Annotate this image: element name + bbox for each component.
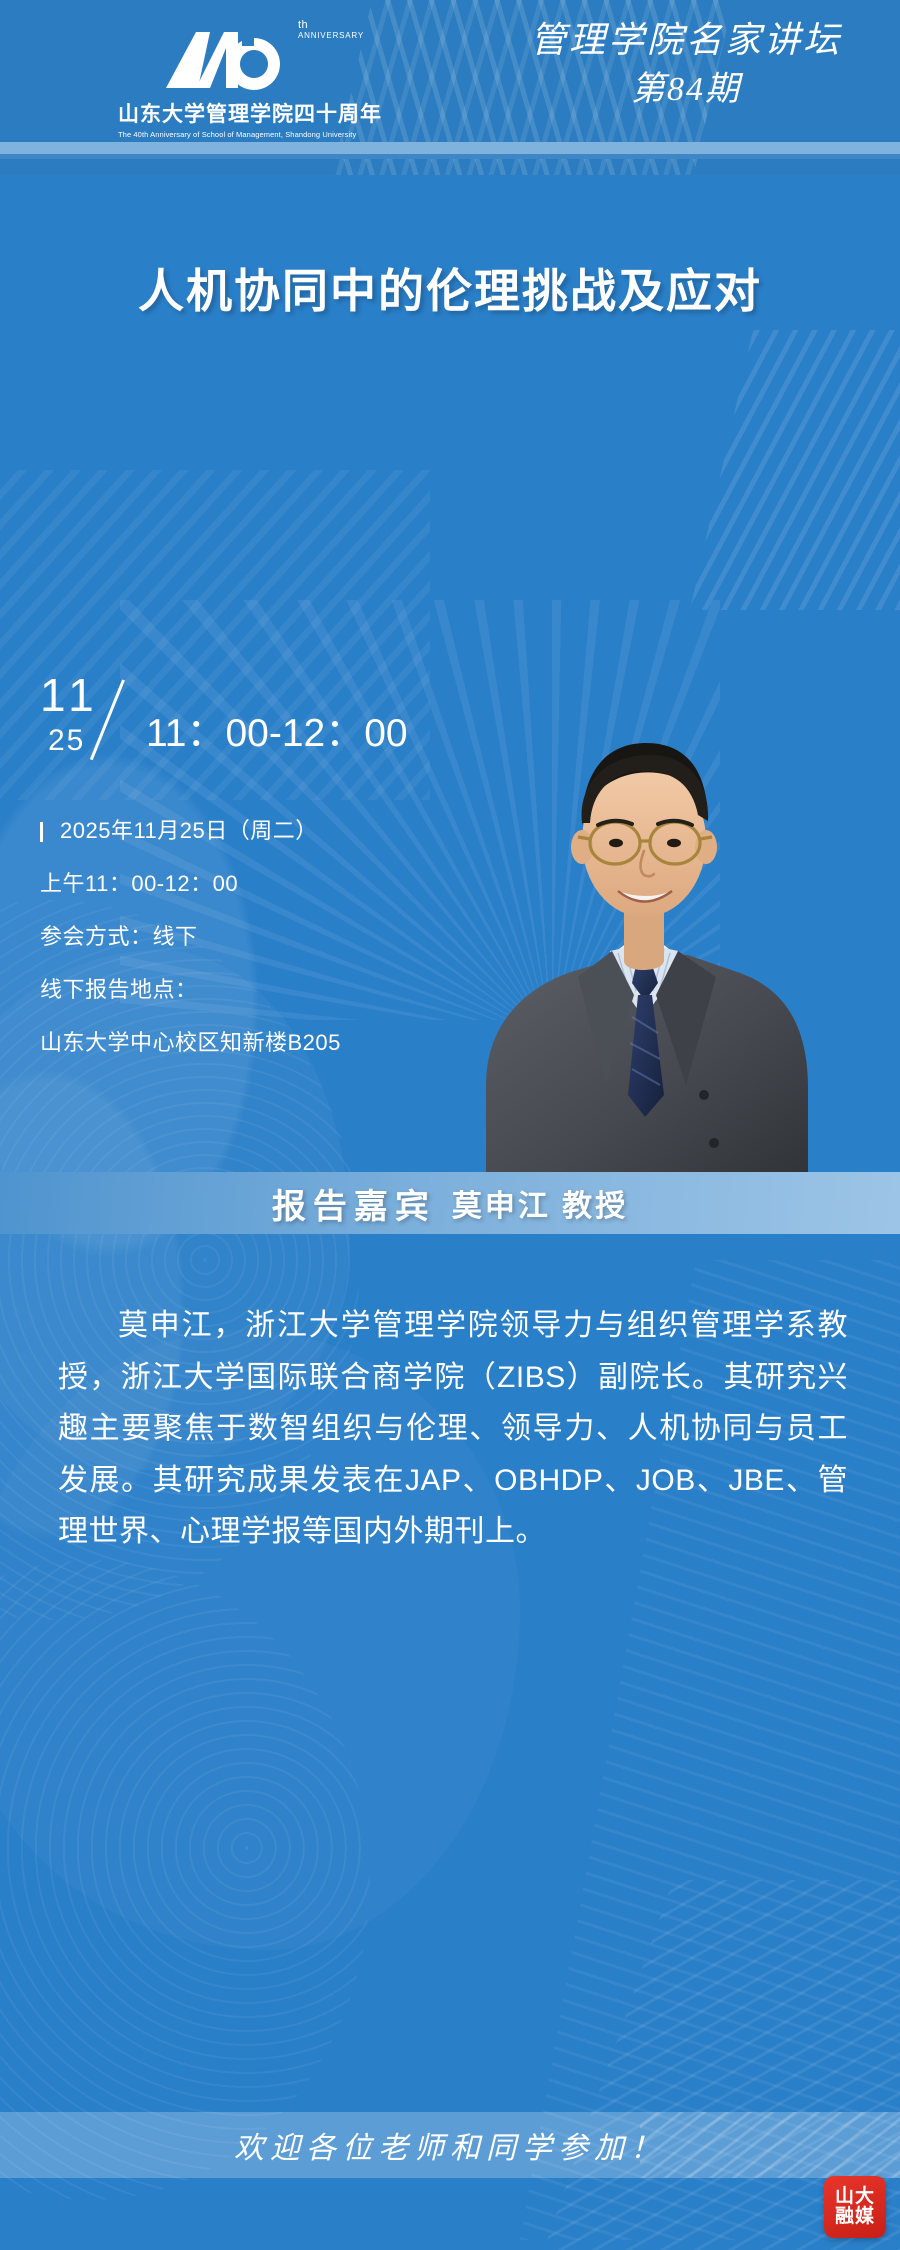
media-brand-badge: 山大 融媒 — [824, 2176, 886, 2238]
badge-line-1: 山大 — [835, 2187, 875, 2207]
series-title-line2: 第84期 — [530, 69, 842, 112]
series-title: 管理学院名家讲坛 第84期 — [530, 18, 842, 112]
detail-date: 2025年11月25日（周二） — [40, 820, 341, 842]
school-logo: th ANNIVERSARY 山东大学管理学院四十周年 The 40th Ann… — [118, 22, 348, 139]
anniversary-word: ANNIVERSARY — [298, 32, 364, 40]
detail-venue-label: 线下报告地点： — [40, 979, 341, 1001]
poster-root: th ANNIVERSARY 山东大学管理学院四十周年 The 40th Ann… — [0, 0, 900, 2250]
speaker-name: 莫申江 教授 — [452, 1181, 628, 1225]
detail-venue-value: 山东大学中心校区知新楼B205 — [40, 1032, 341, 1054]
speaker-banner-text: 报告嘉宾 莫申江 教授 — [0, 1172, 900, 1234]
background-title-right-stripes — [690, 330, 900, 610]
poster-header: th ANNIVERSARY 山东大学管理学院四十周年 The 40th Ann… — [0, 0, 900, 175]
date-day: 25 — [48, 726, 85, 756]
anniversary-superscript: th ANNIVERSARY — [298, 20, 364, 40]
anniversary-monogram-icon: th ANNIVERSARY — [118, 22, 348, 94]
detail-mode: 参会方式：线下 — [40, 926, 341, 948]
school-name-cn: 山东大学管理学院四十周年 — [118, 98, 348, 128]
detail-time: 上午11：00-12：00 — [40, 873, 341, 895]
footer-rays-decor — [640, 2112, 900, 2178]
anniversary-th: th — [298, 20, 364, 32]
date-row: 11 25 11：00-12：00 — [40, 672, 470, 782]
header-divider-dark — [0, 154, 900, 159]
speaker-label: 报告嘉宾 — [272, 1179, 436, 1228]
detail-date-text: 2025年11月25日（周二） — [60, 818, 318, 843]
background-arc-left-lower — [0, 1560, 370, 2200]
lecture-title: 人机协同中的伦理挑战及应对 — [0, 255, 900, 321]
date-time-range: 11：00-12：00 — [146, 714, 408, 753]
school-name-en: The 40th Anniversary of School of Manage… — [118, 130, 348, 139]
footer-banner: 欢迎各位老师和同学参加！ — [0, 2112, 900, 2178]
footer-welcome-text: 欢迎各位老师和同学参加！ — [234, 2123, 666, 2167]
date-month: 11 — [40, 672, 100, 718]
event-details-list: 2025年11月25日（周二） 上午11：00-12：00 参会方式：线下 线下… — [40, 820, 341, 1085]
title-section: 人机协同中的伦理挑战及应对 — [0, 255, 900, 321]
badge-line-2: 融媒 — [835, 2207, 875, 2227]
speaker-photo — [478, 665, 808, 1190]
header-divider-light — [0, 142, 900, 154]
speaker-banner: 报告嘉宾 莫申江 教授 — [0, 1172, 900, 1234]
bullet-tick-icon — [40, 822, 43, 842]
series-title-line1: 管理学院名家讲坛 — [530, 18, 842, 63]
speaker-bio: 莫申江，浙江大学管理学院领导力与组织管理学系教授，浙江大学国际联合商学院（ZIB… — [58, 1300, 848, 1558]
date-highlight: 11 25 11：00-12：00 — [40, 672, 470, 782]
speaker-bio-text: 莫申江，浙江大学管理学院领导力与组织管理学系教授，浙江大学国际联合商学院（ZIB… — [58, 1300, 848, 1558]
